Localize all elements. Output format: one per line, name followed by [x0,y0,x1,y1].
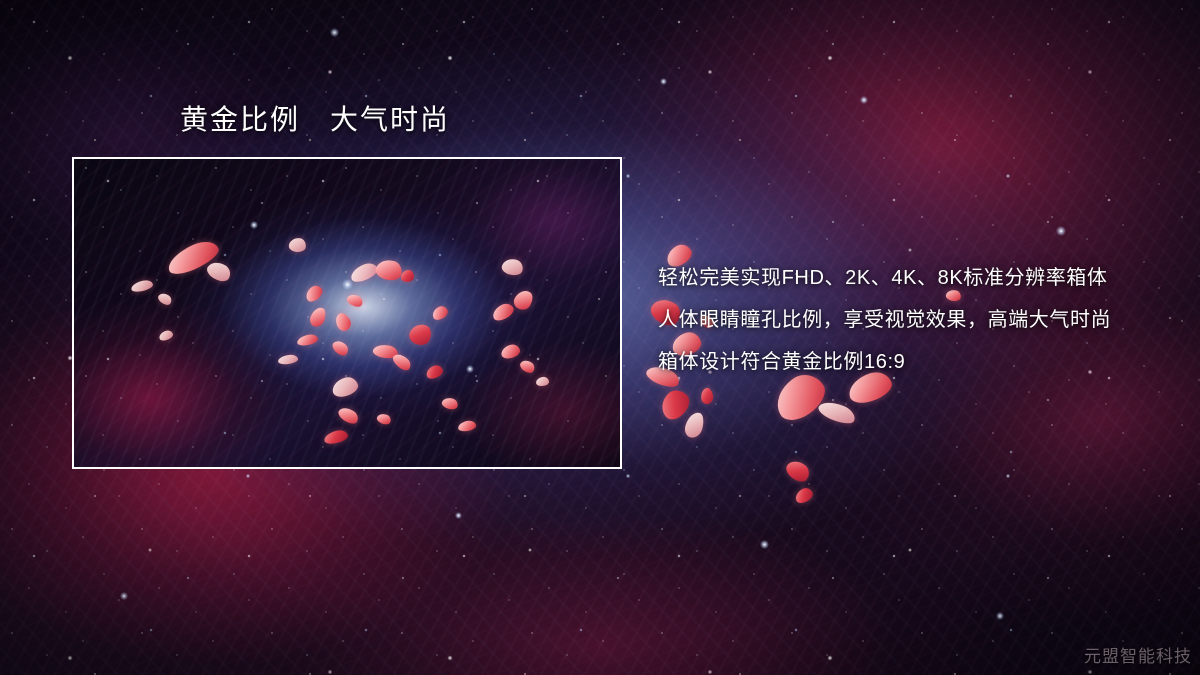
slide-canvas: 黄金比例 大气时尚 轻松完美实现FHD、2K、4K、8K标准分辨率箱体 人体眼睛… [0,0,1200,675]
bright-star [455,512,462,519]
petal [816,398,858,428]
body-line-2: 人体眼睛瞳孔比例，享受视觉效果，高端大气时尚 [658,299,1178,341]
petal [700,387,714,405]
bright-star [996,612,1004,620]
bright-star [760,540,769,549]
bright-star [860,96,868,104]
photo-frame [72,157,622,469]
bright-star [330,28,339,37]
petal [656,385,695,424]
bright-star [120,592,128,600]
petal [793,486,815,506]
body-line-1: 轻松完美实现FHD、2K、4K、8K标准分辨率箱体 [658,257,1178,299]
body-line-3: 箱体设计符合黄金比例16:9 [658,341,1178,383]
bright-star [660,78,667,85]
photo-filaments [74,159,620,467]
watermark: 元盟智能科技 [1084,642,1192,667]
body-copy: 轻松完美实现FHD、2K、4K、8K标准分辨率箱体 人体眼睛瞳孔比例，享受视觉效… [658,257,1178,383]
petal [783,456,813,485]
page-title: 黄金比例 大气时尚 [180,102,450,137]
petal [683,410,707,440]
bright-star [1056,226,1066,236]
